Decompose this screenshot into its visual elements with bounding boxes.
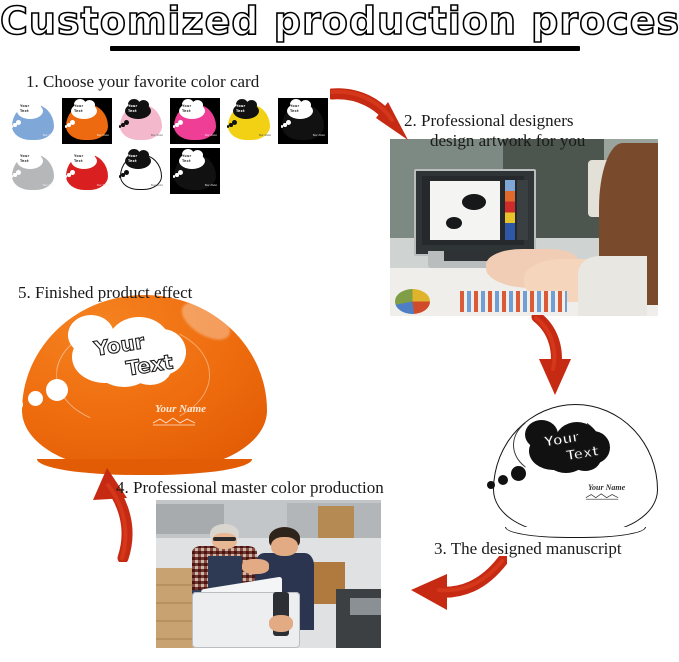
title-underline	[110, 46, 580, 51]
color-card-white[interactable]: YourText Your Name	[116, 148, 166, 194]
card-name-text: Your Name	[43, 134, 55, 138]
color-card-grid: YourText Your Name YourText Your Name Yo…	[8, 98, 338, 198]
card-name-text: Your Name	[43, 184, 55, 188]
card-text: YourText	[20, 154, 29, 164]
card-name-text: Your Name	[205, 184, 217, 188]
step-1-label: 1. Choose your favorite color card	[26, 72, 259, 92]
color-card-orange[interactable]: YourText Your Name	[62, 98, 112, 144]
color-card-red[interactable]: YourText Your Name	[62, 148, 112, 194]
step-2-label-line2: design artwork for you	[404, 131, 585, 151]
card-name-text: Your Name	[97, 134, 109, 138]
thought-dot-medium	[28, 391, 43, 406]
step-5-label: 5. Finished product effect	[18, 283, 192, 303]
step-2-label: 2. Professional designers design artwork…	[404, 111, 585, 151]
card-text: YourText	[236, 104, 245, 114]
thought-dot-small	[487, 481, 495, 489]
card-name-text: Your Name	[97, 184, 109, 188]
color-card-black-2[interactable]: YourText Your Name	[170, 148, 220, 194]
wave-squiggle	[152, 417, 196, 426]
step-4-label: 4. Professional master color production	[116, 478, 384, 498]
manuscript-cap: Your Text Your Name	[493, 404, 658, 534]
card-name-text: Your Name	[151, 134, 163, 138]
card-text: YourText	[290, 104, 299, 114]
card-text: YourText	[128, 154, 137, 164]
color-card-hot-pink[interactable]: YourText Your Name	[170, 98, 220, 144]
wave-squiggle	[585, 493, 619, 500]
card-text: YourText	[182, 154, 191, 164]
step-3-label: 3. The designed manuscript	[434, 539, 622, 559]
thought-dot-large	[511, 466, 526, 481]
color-card-gray[interactable]: YourText Your Name	[8, 148, 58, 194]
card-name-text: Your Name	[259, 134, 271, 138]
color-card-blue[interactable]: YourText Your Name	[8, 98, 58, 144]
thought-dot-medium	[498, 475, 508, 485]
color-card-light-pink[interactable]: YourText Your Name	[116, 98, 166, 144]
card-name-text: Your Name	[151, 184, 163, 188]
color-card-yellow[interactable]: YourText Your Name	[224, 98, 274, 144]
card-text: YourText	[182, 104, 191, 114]
cap-name-text: Your Name	[155, 403, 206, 415]
page-title: Customized production process	[0, 2, 679, 42]
step-2-label-line1: 2. Professional designers	[404, 111, 574, 130]
card-text: YourText	[128, 104, 137, 114]
factory-photo	[156, 500, 381, 648]
card-text: YourText	[74, 104, 83, 114]
designer-photo	[390, 139, 658, 316]
cap-brim	[505, 527, 647, 538]
card-name-text: Your Name	[205, 134, 217, 138]
finished-product-cap: Your Text Your Name	[22, 295, 267, 470]
arrow-step3-to-step4	[403, 556, 507, 625]
card-text: YourText	[20, 104, 29, 114]
color-card-row-2: YourText Your Name YourText Your Name Yo…	[8, 148, 338, 194]
arrow-step2-to-step3	[525, 315, 587, 404]
card-text: YourText	[74, 154, 83, 164]
color-card-black[interactable]: YourText Your Name	[278, 98, 328, 144]
thought-dot-large	[46, 379, 68, 401]
cap-name-text: Your Name	[588, 483, 625, 492]
card-name-text: Your Name	[313, 134, 325, 138]
thought-dot-small	[12, 399, 23, 410]
infographic-canvas: Customized production process 1. Choose …	[0, 0, 679, 662]
page-title-wrap: Customized production process	[0, 2, 679, 42]
cap-brim	[37, 459, 253, 475]
color-card-row-1: YourText Your Name YourText Your Name Yo…	[8, 98, 338, 144]
